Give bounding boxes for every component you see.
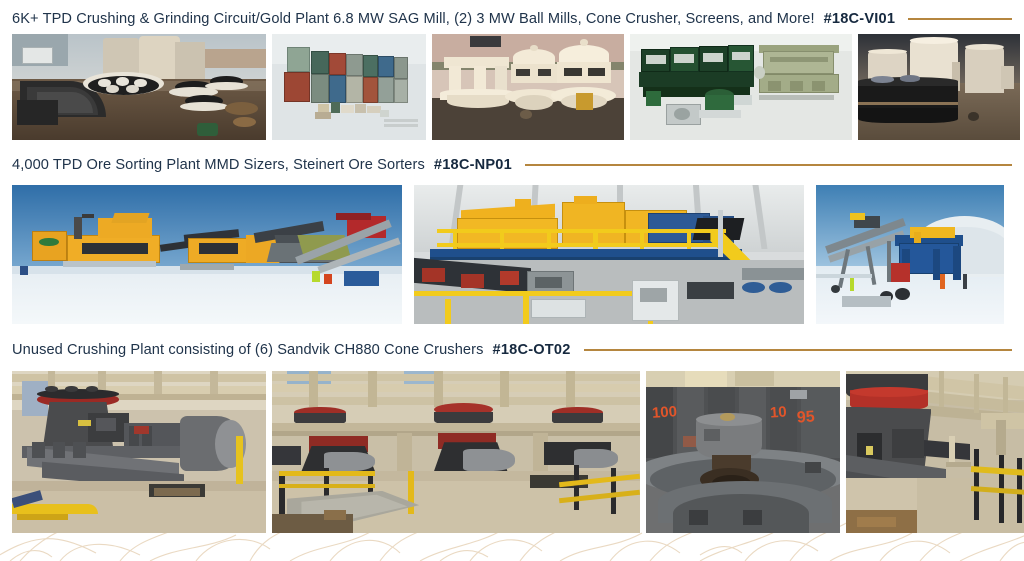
photo-row-1	[0, 34, 1024, 140]
photo-thumbnail[interactable]	[414, 185, 804, 324]
photo-scene-cream-crushers	[432, 34, 624, 140]
photo-thumbnail[interactable]	[12, 371, 266, 533]
photo-thumbnail[interactable]	[858, 34, 1020, 140]
photo-scene-crusher-plant-floor	[272, 371, 640, 533]
photo-thumbnail[interactable]	[630, 34, 852, 140]
photo-thumbnail[interactable]	[12, 34, 266, 140]
heading-divider-rule	[584, 349, 1012, 351]
image-watermark-square	[576, 93, 593, 110]
heading-divider-rule	[908, 18, 1012, 20]
section-heading: 4,000 TPD Ore Sorting Plant MMD Sizers, …	[0, 157, 1024, 173]
section-reference-code: #18C-NP01	[434, 157, 512, 173]
section-heading: 6K+ TPD Crushing & Grinding Circuit/Gold…	[0, 11, 1024, 27]
photo-thumbnail[interactable]	[432, 34, 624, 140]
photo-row-2	[0, 185, 1024, 324]
photo-scene-thickener-tanks	[858, 34, 1020, 140]
photo-scene-crusher-with-motor	[12, 371, 266, 533]
photo-thumbnail[interactable]	[272, 34, 426, 140]
photo-scene-green-screens	[630, 34, 852, 140]
photo-scene-crusher-base-side	[846, 371, 1024, 533]
liner-marking-100: 100	[651, 404, 677, 421]
liner-marking-95: 95	[797, 409, 816, 426]
section-title: 6K+ TPD Crushing & Grinding Circuit/Gold…	[12, 11, 815, 27]
photo-scene-mill-liners	[12, 34, 266, 140]
section-title: 4,000 TPD Ore Sorting Plant MMD Sizers, …	[12, 157, 425, 173]
photo-scene-shipping-containers	[272, 34, 426, 140]
section-reference-code: #18C-OT02	[493, 342, 571, 358]
photo-thumbnail[interactable]: 100 10 95	[646, 371, 840, 533]
photo-thumbnail[interactable]	[846, 371, 1024, 533]
liner-marking-10: 10	[770, 404, 788, 420]
photo-scene-crusher-bowl-interior: 100 10 95	[646, 371, 840, 533]
listing-section-18C-OT02: Unused Crushing Plant consisting of (6) …	[0, 324, 1024, 533]
photo-thumbnail[interactable]	[272, 371, 640, 533]
listing-section-18C-VI01: 6K+ TPD Crushing & Grinding Circuit/Gold…	[0, 0, 1024, 140]
listings-page: 6K+ TPD Crushing & Grinding Circuit/Gold…	[0, 0, 1024, 561]
photo-scene-yellow-crushing-train	[12, 185, 402, 324]
photo-scene-mobile-conveyor-dome	[816, 185, 1004, 324]
section-reference-code: #18C-VI01	[824, 11, 896, 27]
photo-scene-ore-sorter-platform	[414, 185, 804, 324]
photo-thumbnail[interactable]	[12, 185, 402, 324]
photo-row-3: 100 10 95	[0, 371, 1024, 533]
section-heading: Unused Crushing Plant consisting of (6) …	[0, 342, 1024, 358]
listing-section-18C-NP01: 4,000 TPD Ore Sorting Plant MMD Sizers, …	[0, 140, 1024, 324]
photo-thumbnail[interactable]	[816, 185, 1004, 324]
section-title: Unused Crushing Plant consisting of (6) …	[12, 342, 484, 358]
heading-divider-rule	[525, 164, 1012, 166]
